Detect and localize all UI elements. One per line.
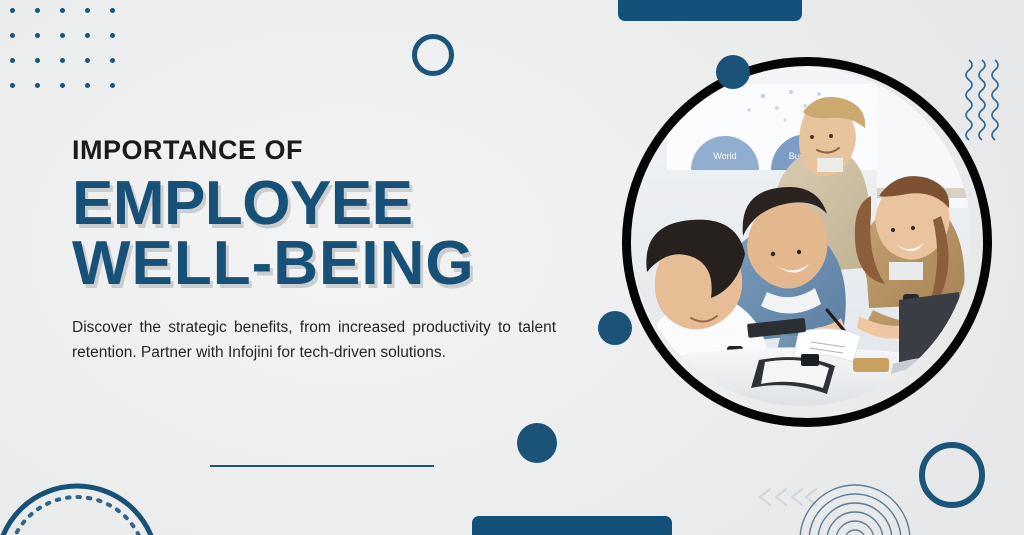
headline-block: IMPORTANCE OF EMPLOYEE WELL-BEING Discov… (72, 136, 562, 365)
divider-line (210, 465, 434, 467)
hero-photo: World Business (622, 57, 992, 427)
page-title: EMPLOYEE WELL-BEING (72, 174, 562, 294)
dot-grid-decoration (10, 8, 135, 108)
filled-circle-top (716, 55, 750, 89)
filled-circle-middle (598, 311, 632, 345)
headline-line-1: EMPLOYEE (72, 174, 562, 234)
headline-line-2: WELL-BEING (72, 234, 562, 294)
bottom-accent-bar (472, 516, 672, 535)
eyebrow-text: IMPORTANCE OF (72, 136, 562, 164)
filled-circle-lower (517, 423, 557, 463)
open-circle-icon-top (412, 34, 454, 76)
open-circle-icon-bottom (919, 442, 985, 508)
banner-canvas: World Business (0, 0, 1024, 535)
corner-arc-decoration (0, 474, 166, 535)
body-paragraph: Discover the strategic benefits, from in… (72, 315, 556, 365)
photo-outline-ring (583, 18, 1024, 467)
concentric-rings-decoration (796, 478, 914, 535)
top-accent-bar (618, 0, 802, 21)
